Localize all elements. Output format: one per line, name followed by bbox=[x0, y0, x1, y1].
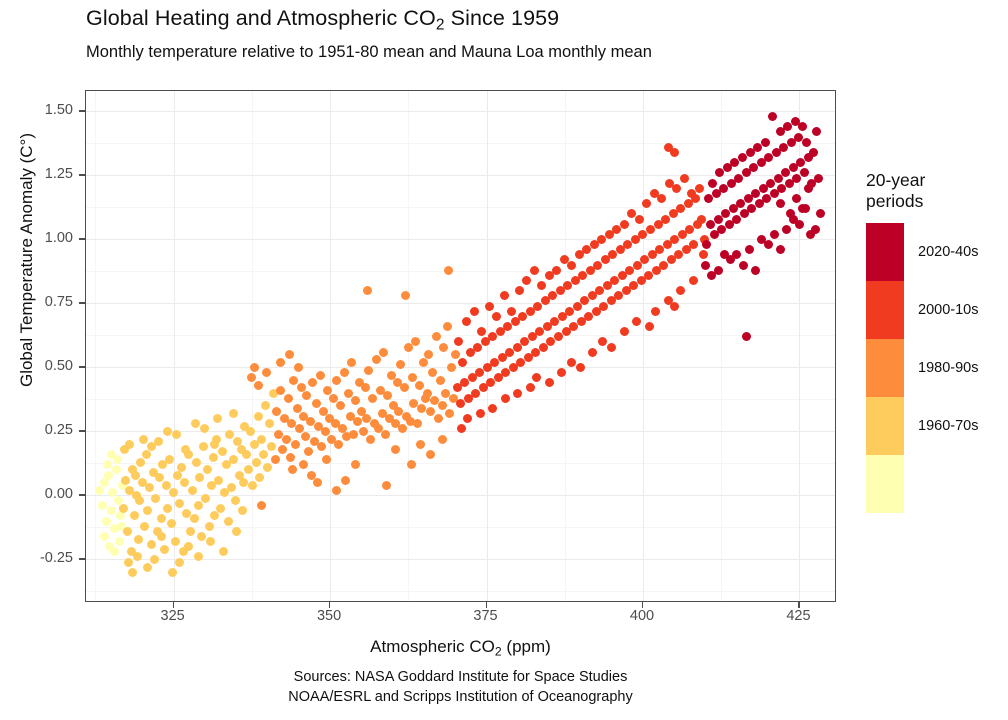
scatter-point bbox=[192, 458, 201, 467]
x-tick-label: 400 bbox=[630, 608, 654, 624]
scatter-point bbox=[197, 532, 206, 541]
scatter-point bbox=[802, 138, 811, 147]
gridline-minor-vertical bbox=[565, 91, 566, 601]
scatter-point bbox=[95, 486, 104, 495]
scatter-point bbox=[567, 261, 576, 270]
scatter-point bbox=[139, 435, 148, 444]
scatter-point bbox=[332, 486, 341, 495]
scatter-point bbox=[462, 317, 471, 326]
scatter-point bbox=[407, 460, 416, 469]
scatter-point bbox=[135, 496, 144, 505]
scatter-point bbox=[209, 453, 218, 462]
scatter-point bbox=[334, 440, 343, 449]
scatter-point bbox=[507, 307, 516, 316]
x-axis-label-before: Atmospheric CO bbox=[370, 637, 495, 656]
scatter-point bbox=[398, 424, 407, 433]
x-tick-label: 425 bbox=[786, 608, 810, 624]
gridline-major-vertical bbox=[643, 91, 644, 601]
scatter-point bbox=[102, 517, 111, 526]
scatter-point bbox=[150, 555, 159, 564]
scatter-point bbox=[216, 504, 225, 513]
scatter-point bbox=[451, 350, 460, 359]
scatter-point bbox=[267, 442, 276, 451]
scatter-point bbox=[299, 460, 308, 469]
scatter-point bbox=[104, 471, 113, 480]
scatter-point bbox=[770, 230, 779, 239]
scatter-point bbox=[308, 378, 317, 387]
scatter-point bbox=[261, 401, 270, 410]
scatter-point bbox=[642, 199, 651, 208]
scatter-point bbox=[225, 430, 234, 439]
scatter-point bbox=[447, 363, 456, 372]
scatter-point bbox=[532, 373, 541, 382]
scatter-point bbox=[180, 478, 189, 487]
scatter-point bbox=[438, 401, 447, 410]
scatter-point bbox=[278, 445, 287, 454]
scatter-point bbox=[157, 514, 166, 523]
y-tick-label: 0.50 bbox=[0, 358, 73, 374]
scatter-point bbox=[363, 286, 372, 295]
scatter-point bbox=[670, 148, 679, 157]
caption-line-2: NOAA/ESRL and Scripps Institution of Oce… bbox=[85, 688, 836, 708]
scatter-point bbox=[255, 473, 264, 482]
scatter-point bbox=[254, 412, 263, 421]
scatter-point bbox=[391, 445, 400, 454]
scatter-point bbox=[121, 476, 130, 485]
y-tick-label: 1.50 bbox=[0, 102, 73, 118]
scatter-point bbox=[231, 496, 240, 505]
scatter-point bbox=[190, 514, 199, 523]
scatter-point bbox=[276, 358, 285, 367]
scatter-point bbox=[620, 327, 629, 336]
plot-panel bbox=[85, 90, 836, 602]
y-tick-mark bbox=[79, 302, 85, 303]
scatter-point bbox=[116, 511, 125, 520]
scatter-point bbox=[173, 471, 182, 480]
chart-title-subscript: 2 bbox=[436, 16, 445, 33]
gridline-major-vertical bbox=[330, 91, 331, 601]
scatter-point bbox=[349, 430, 358, 439]
scatter-point bbox=[115, 537, 124, 546]
scatter-point bbox=[147, 540, 156, 549]
scatter-point bbox=[366, 435, 375, 444]
legend-label: 2020-40s bbox=[918, 244, 978, 260]
scatter-point bbox=[134, 535, 143, 544]
gridline-major-horizontal bbox=[86, 239, 835, 240]
chart-title-text-before: Global Heating and Atmospheric CO bbox=[86, 6, 436, 30]
scatter-point bbox=[768, 112, 777, 121]
scatter-point bbox=[680, 174, 689, 183]
scatter-point bbox=[304, 447, 313, 456]
scatter-point bbox=[186, 527, 195, 536]
scatter-point bbox=[214, 476, 223, 485]
scatter-point bbox=[444, 266, 453, 275]
scatter-point bbox=[163, 504, 172, 513]
scatter-point bbox=[359, 427, 368, 436]
y-tick-label: 0.00 bbox=[0, 486, 73, 502]
gridline-major-vertical bbox=[487, 91, 488, 601]
legend-swatch bbox=[866, 339, 904, 397]
scatter-point bbox=[432, 332, 441, 341]
chart-canvas: Global Heating and Atmospheric CO2 Since… bbox=[0, 0, 1008, 720]
scatter-point bbox=[526, 383, 535, 392]
scatter-point bbox=[458, 358, 467, 367]
scatter-point bbox=[157, 532, 166, 541]
legend-label: 1960-70s bbox=[918, 418, 978, 434]
scatter-point bbox=[263, 463, 272, 472]
y-tick-mark bbox=[79, 238, 85, 239]
gridline-minor-horizontal bbox=[86, 335, 835, 336]
scatter-point bbox=[513, 389, 522, 398]
scatter-point bbox=[607, 343, 616, 352]
scatter-point bbox=[124, 558, 133, 567]
scatter-point bbox=[411, 337, 420, 346]
scatter-point bbox=[522, 276, 531, 285]
scatter-point bbox=[798, 122, 807, 131]
y-tick-label: 0.25 bbox=[0, 422, 73, 438]
y-tick-mark bbox=[79, 174, 85, 175]
scatter-point bbox=[257, 435, 266, 444]
scatter-point bbox=[812, 127, 821, 136]
gridline-minor-horizontal bbox=[86, 271, 835, 272]
legend-title-line2: periods bbox=[866, 191, 1008, 212]
scatter-point bbox=[154, 437, 163, 446]
scatter-point bbox=[368, 394, 377, 403]
scatter-point bbox=[347, 358, 356, 367]
legend-title: 20-year periods bbox=[866, 170, 1008, 211]
y-tick-mark bbox=[79, 494, 85, 495]
scatter-point bbox=[175, 558, 184, 567]
scatter-point bbox=[145, 483, 154, 492]
scatter-point bbox=[218, 447, 227, 456]
scatter-point bbox=[361, 383, 370, 392]
scatter-point bbox=[434, 414, 443, 423]
scatter-point bbox=[396, 360, 405, 369]
x-axis-label-subscript: 2 bbox=[495, 644, 502, 658]
scatter-point bbox=[699, 250, 708, 259]
legend: 20-year periods 2020-40s2000-10s1980-90s… bbox=[866, 170, 1008, 513]
scatter-point bbox=[184, 542, 193, 551]
scatter-point bbox=[676, 286, 685, 295]
scatter-point bbox=[476, 409, 485, 418]
scatter-point bbox=[795, 220, 804, 229]
scatter-point bbox=[284, 394, 293, 403]
scatter-point bbox=[160, 545, 169, 554]
scatter-point bbox=[408, 373, 417, 382]
y-tick-label: 1.25 bbox=[0, 166, 73, 182]
scatter-point bbox=[242, 450, 251, 459]
scatter-point bbox=[110, 547, 119, 556]
x-tick-mark bbox=[642, 602, 643, 608]
scatter-point bbox=[413, 419, 422, 428]
scatter-point bbox=[163, 427, 172, 436]
scatter-point bbox=[257, 501, 266, 510]
y-tick-label: 0.75 bbox=[0, 294, 73, 310]
scatter-point bbox=[210, 511, 219, 520]
scatter-point bbox=[426, 450, 435, 459]
scatter-point bbox=[169, 488, 178, 497]
scatter-point bbox=[168, 568, 177, 577]
scatter-point bbox=[351, 396, 360, 405]
chart-subtitle: Monthly temperature relative to 1951-80 … bbox=[86, 43, 652, 62]
scatter-point bbox=[276, 386, 285, 395]
legend-swatch bbox=[866, 223, 904, 281]
scatter-point bbox=[697, 215, 706, 224]
scatter-point bbox=[239, 478, 248, 487]
scatter-point bbox=[576, 363, 585, 372]
scatter-point bbox=[195, 473, 204, 482]
scatter-point bbox=[133, 552, 142, 561]
scatter-point bbox=[545, 378, 554, 387]
scatter-point bbox=[689, 240, 698, 249]
scatter-point bbox=[285, 350, 294, 359]
scatter-point bbox=[745, 245, 754, 254]
scatter-point bbox=[443, 322, 452, 331]
legend-title-line1: 20-year bbox=[866, 170, 1008, 191]
caption-line-1: Sources: NASA Goddard Institute for Spac… bbox=[85, 668, 836, 688]
scatter-point bbox=[457, 424, 466, 433]
scatter-point bbox=[438, 435, 447, 444]
gridline-major-vertical bbox=[799, 91, 800, 601]
scatter-point bbox=[123, 527, 132, 536]
x-tick-label: 375 bbox=[473, 608, 497, 624]
scatter-point bbox=[294, 363, 303, 372]
scatter-point bbox=[751, 266, 760, 275]
y-tick-mark bbox=[79, 366, 85, 367]
scatter-point bbox=[537, 281, 546, 290]
scatter-point bbox=[246, 427, 255, 436]
legend-swatch bbox=[866, 397, 904, 455]
scatter-point bbox=[238, 506, 247, 515]
scatter-point bbox=[814, 174, 823, 183]
scatter-point bbox=[445, 409, 454, 418]
scatter-point bbox=[436, 376, 445, 385]
scatter-point bbox=[804, 184, 813, 193]
scatter-point bbox=[155, 473, 164, 482]
gridline-major-horizontal bbox=[86, 367, 835, 368]
y-tick-mark bbox=[79, 558, 85, 559]
scatter-point bbox=[119, 504, 128, 513]
scatter-point bbox=[645, 322, 654, 331]
scatter-point bbox=[702, 240, 711, 249]
x-tick-mark bbox=[798, 602, 799, 608]
scatter-point bbox=[250, 363, 259, 372]
y-tick-mark bbox=[79, 110, 85, 111]
scatter-point bbox=[588, 348, 597, 357]
scatter-point bbox=[816, 209, 825, 218]
scatter-point bbox=[312, 399, 321, 408]
scatter-point bbox=[219, 547, 228, 556]
chart-caption: Sources: NASA Goddard Institute for Spac… bbox=[85, 668, 836, 707]
scatter-point bbox=[210, 440, 219, 449]
scatter-point bbox=[229, 455, 238, 464]
scatter-point bbox=[227, 483, 236, 492]
scatter-point bbox=[701, 261, 710, 270]
scatter-point bbox=[439, 343, 448, 352]
chart-title-text-after: Since 1959 bbox=[445, 6, 560, 30]
y-tick-mark bbox=[79, 430, 85, 431]
chart-title: Global Heating and Atmospheric CO2 Since… bbox=[86, 6, 559, 34]
scatter-point bbox=[143, 506, 152, 515]
scatter-point bbox=[181, 445, 190, 454]
scatter-point bbox=[632, 317, 641, 326]
scatter-point bbox=[806, 230, 815, 239]
scatter-point bbox=[426, 407, 435, 416]
legend-swatch bbox=[866, 455, 904, 513]
scatter-point bbox=[732, 250, 741, 259]
scatter-point bbox=[289, 376, 298, 385]
scatter-point bbox=[232, 527, 241, 536]
scatter-point bbox=[205, 522, 214, 531]
x-tick-label: 325 bbox=[161, 608, 185, 624]
scatter-point bbox=[557, 368, 566, 377]
legend-swatch bbox=[866, 281, 904, 339]
gridline-major-horizontal bbox=[86, 303, 835, 304]
scatter-point bbox=[515, 286, 524, 295]
gridline-major-horizontal bbox=[86, 111, 835, 112]
scatter-point bbox=[140, 522, 149, 531]
scatter-point bbox=[98, 501, 107, 510]
scatter-point bbox=[291, 440, 300, 449]
scatter-point bbox=[492, 312, 501, 321]
scatter-point bbox=[351, 460, 360, 469]
scatter-point bbox=[199, 442, 208, 451]
scatter-point bbox=[322, 455, 331, 464]
scatter-point bbox=[661, 215, 670, 224]
scatter-point bbox=[194, 552, 203, 561]
x-tick-mark bbox=[173, 602, 174, 608]
scatter-point bbox=[695, 184, 704, 193]
scatter-point bbox=[485, 302, 494, 311]
scatter-point bbox=[248, 481, 257, 490]
scatter-point bbox=[672, 184, 681, 193]
gridline-minor-horizontal bbox=[86, 143, 835, 144]
scatter-point bbox=[100, 532, 109, 541]
scatter-point bbox=[103, 460, 112, 469]
scatter-point bbox=[265, 419, 274, 428]
scatter-point bbox=[200, 424, 209, 433]
scatter-point bbox=[364, 366, 373, 375]
x-tick-label: 350 bbox=[317, 608, 341, 624]
scatter-point bbox=[552, 266, 561, 275]
scatter-point bbox=[416, 440, 425, 449]
scatter-point bbox=[800, 168, 809, 177]
scatter-point bbox=[332, 376, 341, 385]
scatter-point bbox=[259, 450, 268, 459]
scatter-point bbox=[761, 138, 770, 147]
scatter-point bbox=[742, 332, 751, 341]
scatter-point bbox=[288, 465, 297, 474]
scatter-point bbox=[381, 430, 390, 439]
scatter-point bbox=[786, 209, 795, 218]
scatter-point bbox=[415, 381, 424, 390]
scatter-point bbox=[224, 517, 233, 526]
scatter-point bbox=[165, 455, 174, 464]
scatter-point bbox=[125, 440, 134, 449]
x-tick-mark bbox=[486, 602, 487, 608]
scatter-point bbox=[477, 327, 486, 336]
scatter-point bbox=[383, 391, 392, 400]
scatter-point bbox=[401, 291, 410, 300]
scatter-point bbox=[128, 568, 137, 577]
scatter-point bbox=[194, 501, 203, 510]
scatter-point bbox=[162, 481, 171, 490]
scatter-point bbox=[708, 179, 717, 188]
scatter-point bbox=[809, 148, 818, 157]
scatter-point bbox=[341, 476, 350, 485]
scatter-point bbox=[500, 291, 509, 300]
y-tick-label: 1.00 bbox=[0, 230, 73, 246]
scatter-point bbox=[635, 215, 644, 224]
scatter-point bbox=[344, 389, 353, 398]
legend-body: 2020-40s2000-10s1980-90s1960-70s bbox=[866, 223, 1008, 513]
scatter-point bbox=[136, 458, 145, 467]
scatter-point bbox=[317, 442, 326, 451]
scatter-point bbox=[463, 414, 472, 423]
scatter-point bbox=[620, 220, 629, 229]
scatter-point bbox=[172, 430, 181, 439]
scatter-point bbox=[191, 419, 200, 428]
scatter-point bbox=[340, 368, 349, 377]
scatter-point bbox=[372, 355, 381, 364]
scatter-point bbox=[302, 391, 311, 400]
scatter-point bbox=[167, 519, 176, 528]
scatter-point bbox=[382, 481, 391, 490]
scatter-point bbox=[691, 194, 700, 203]
scatter-point bbox=[282, 435, 291, 444]
scatter-point bbox=[100, 478, 109, 487]
gridline-minor-vertical bbox=[252, 91, 253, 601]
scatter-point bbox=[252, 458, 261, 467]
scatter-point bbox=[151, 494, 160, 503]
gridline-minor-horizontal bbox=[86, 527, 835, 528]
scatter-point bbox=[530, 266, 539, 275]
scatter-point bbox=[175, 499, 184, 508]
scatter-point bbox=[244, 465, 253, 474]
scatter-point bbox=[379, 348, 388, 357]
scatter-point bbox=[657, 194, 666, 203]
legend-label: 2000-10s bbox=[918, 302, 978, 318]
scatter-point bbox=[417, 404, 426, 413]
scatter-point bbox=[776, 199, 785, 208]
y-tick-label: -0.25 bbox=[0, 550, 73, 566]
scatter-point bbox=[670, 302, 679, 311]
scatter-point bbox=[598, 337, 607, 346]
scatter-point bbox=[301, 432, 310, 441]
scatter-point bbox=[792, 194, 801, 203]
scatter-point bbox=[272, 407, 281, 416]
scatter-point bbox=[470, 307, 479, 316]
scatter-point bbox=[776, 245, 785, 254]
gridline-minor-horizontal bbox=[86, 591, 835, 592]
scatter-point bbox=[316, 371, 325, 380]
scatter-point bbox=[428, 368, 437, 377]
scatter-point bbox=[353, 417, 362, 426]
scatter-point bbox=[171, 537, 180, 546]
scatter-point bbox=[707, 271, 716, 280]
scatter-point bbox=[130, 511, 139, 520]
scatter-point bbox=[567, 358, 576, 367]
scatter-point bbox=[107, 506, 116, 515]
legend-colorbar bbox=[866, 223, 904, 513]
gridline-major-horizontal bbox=[86, 495, 835, 496]
scatter-point bbox=[651, 307, 660, 316]
scatter-point bbox=[177, 463, 186, 472]
scatter-point bbox=[286, 453, 295, 462]
scatter-point bbox=[501, 394, 510, 403]
scatter-point bbox=[419, 358, 428, 367]
scatter-point bbox=[488, 404, 497, 413]
